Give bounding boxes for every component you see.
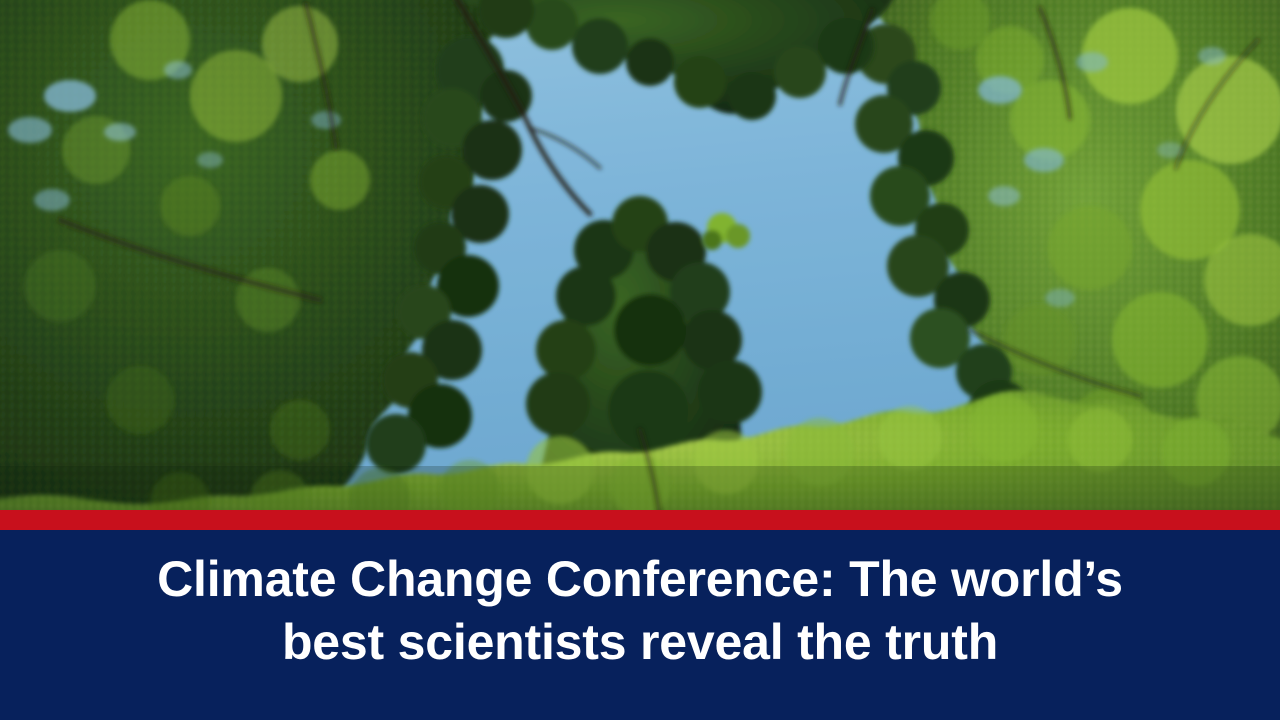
news-thumbnail-card[interactable]: Climate Change Conference: The world’s b… [0,0,1280,720]
headline-banner: Climate Change Conference: The world’s b… [0,530,1280,720]
photo-bottom-shade [0,466,1280,510]
forest-canopy-photo [0,0,1280,510]
canopy-illustration [0,0,1280,510]
photo-vignette [0,0,1280,510]
red-divider-bar [0,510,1280,530]
headline-text: Climate Change Conference: The world’s b… [0,548,1280,674]
